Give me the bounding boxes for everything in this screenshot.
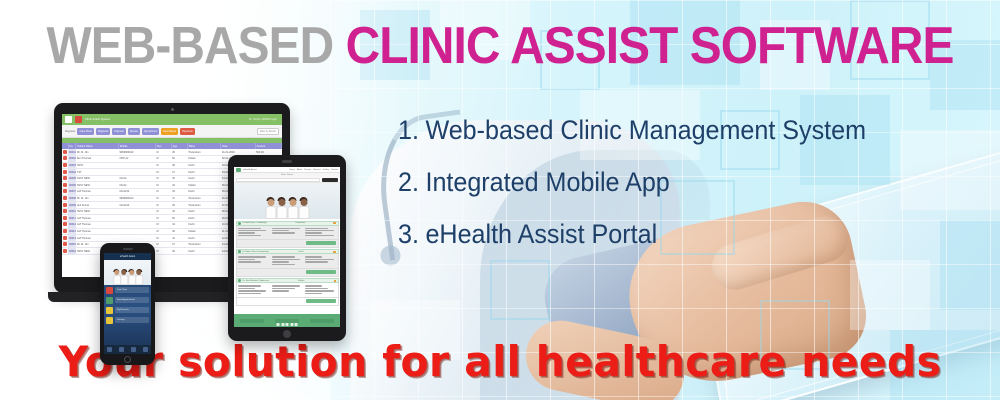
table-cell: 36 — [171, 228, 187, 235]
table-cell: M — [156, 248, 172, 255]
table-cell: 29 — [171, 202, 187, 209]
table-cell — [119, 235, 156, 242]
book-appointment-button-2[interactable] — [306, 270, 336, 274]
table-cell: 0121212 — [119, 202, 156, 209]
doctor-card-2-title: Dr. Meera Nair, Dermatologist — [243, 251, 269, 253]
table-cell: 00002 — [68, 156, 76, 163]
table-cell: Kochi — [187, 235, 221, 242]
toolbar-button-payment[interactable]: Payment — [112, 128, 125, 135]
table-cell: Kochi — [187, 175, 221, 182]
tablet-home-button[interactable] — [283, 330, 291, 338]
doctor-card-2-body — [236, 254, 339, 269]
phone-menu-item-my-records[interactable]: My Records — [104, 305, 151, 315]
gear-icon — [106, 317, 113, 324]
table-cell — [119, 215, 156, 222]
table-cell: 00004 — [68, 169, 76, 176]
table-cell: M — [156, 156, 172, 163]
table-cell: M — [156, 189, 172, 196]
pagination[interactable] — [277, 323, 298, 326]
phone-app-title: eHealth Assist — [104, 253, 151, 260]
app-brand-icon — [75, 116, 82, 123]
table-cell: TEST NEW — [76, 208, 119, 215]
toolbar-button-review[interactable]: Review — [128, 128, 140, 135]
tab-profile-icon[interactable] — [131, 347, 136, 352]
table-cell: Jeff Thomas — [76, 215, 119, 222]
tab-search-icon[interactable] — [119, 347, 124, 352]
footer-button-about-us[interactable] — [240, 319, 264, 323]
phone-menu-item-settings[interactable]: Settings — [104, 315, 151, 325]
table-cell: 00015 — [68, 241, 76, 248]
trash-icon[interactable] — [63, 150, 67, 154]
table-cell: TEST — [76, 162, 119, 169]
phone-tab-bar[interactable] — [104, 345, 151, 354]
trash-icon[interactable] — [63, 183, 67, 187]
table-cell: 00009 — [68, 202, 76, 209]
feature-item-2: 2. Integrated Mobile App — [398, 168, 937, 196]
doctor-card-3-cta-wrap — [236, 298, 339, 306]
doctor-icon — [238, 222, 241, 225]
table-cell: M — [156, 215, 172, 222]
doctor-card-1[interactable]: Dr. Anil Kumar, Cardiologist Trivandrum — [236, 221, 339, 248]
table-cell: 00012 — [68, 222, 76, 229]
table-cell: 00008 — [68, 195, 76, 202]
app-title: Clinic Assist System — [85, 118, 110, 121]
toolbar-button-appointment[interactable]: Appointment — [142, 128, 159, 135]
table-cell: 00003 — [68, 162, 76, 169]
table-cell: 27 — [171, 169, 187, 176]
table-cell: TEST NEW — [76, 175, 119, 182]
phone-hero-image — [104, 260, 151, 285]
tablet-mockup: eHealth Assist Home About Doctors Servic… — [228, 155, 346, 341]
table-cell: M — [156, 182, 172, 189]
doctor-icon — [238, 250, 241, 253]
table-cell — [119, 228, 156, 235]
table-cell: M — [156, 149, 172, 156]
book-appointment-button-3[interactable] — [306, 299, 336, 303]
table-cell: M — [156, 235, 172, 242]
table-cell: 00010 — [68, 208, 76, 215]
medical-staff-photo — [266, 197, 309, 219]
phone-speaker-icon — [123, 248, 133, 250]
feature-number-1: 1. — [398, 116, 419, 144]
table-cell — [119, 162, 156, 169]
footer-button-sign-up[interactable] — [310, 319, 334, 323]
table-cell: 44 — [171, 222, 187, 229]
table-cell: 38 — [171, 162, 187, 169]
table-cell: M — [156, 169, 172, 176]
portal-hero-image — [234, 183, 340, 219]
phone-menu-item-find-clinic[interactable]: Find Clinic — [104, 285, 151, 295]
trash-icon[interactable] — [63, 216, 67, 220]
table-cell: 41 — [171, 235, 187, 242]
table-cell: Trivandrum — [187, 241, 221, 248]
trash-icon[interactable] — [63, 156, 67, 160]
feature-text-2: Integrated Mobile App — [425, 168, 669, 196]
portal-nav-contact[interactable]: Contact — [331, 169, 338, 171]
table-cell: Kochi — [187, 208, 221, 215]
table-cell: 47 — [171, 195, 187, 202]
book-appointment-button-1[interactable] — [306, 241, 336, 245]
portal-search-button[interactable] — [322, 178, 338, 182]
phone-menu-label-2: Book Appointment — [115, 297, 149, 303]
tablet-camera-icon — [282, 160, 292, 163]
table-cell: TEST NEW — [76, 182, 119, 189]
feature-number-2: 2. — [398, 168, 419, 196]
phone-mockup: eHealth Assist Find Clinic Book Appoint — [100, 243, 155, 365]
table-cell: 27 — [171, 241, 187, 248]
table-cell: Anil Kumar — [76, 202, 119, 209]
trash-icon[interactable] — [63, 236, 67, 240]
app-toolbar: Register Case Sheet Diagnosis Payment Re… — [62, 125, 282, 138]
phone-menu-label-4: Settings — [115, 317, 149, 323]
table-cell: M — [156, 202, 172, 209]
table-cell: Kollam — [187, 156, 221, 163]
table-cell — [119, 222, 156, 229]
doctor-card-1-meta: Trivandrum — [295, 222, 305, 224]
trash-icon[interactable] — [63, 229, 67, 233]
table-cell: M — [156, 195, 172, 202]
table-cell: 9999960010 — [119, 195, 156, 202]
headline-part-web-based: WEB-BASED — [46, 17, 333, 75]
table-cell: 01212 — [119, 175, 156, 182]
clinic-icon — [106, 287, 113, 294]
laptop-camera-icon — [171, 108, 174, 111]
tagline: Your solution for all healthcare needs — [15, 338, 985, 386]
app-user-label[interactable]: Dr. Smith | ADMIN Login — [249, 118, 279, 121]
table-cell: M — [156, 208, 172, 215]
trash-icon[interactable] — [63, 222, 67, 226]
trash-icon[interactable] — [63, 189, 67, 193]
doctor-card-3-title: Dr. John Mathew, Pediatrician — [243, 280, 269, 282]
feature-item-3: 3. eHealth Assist Portal — [398, 220, 937, 248]
table-cell: 34 — [171, 208, 187, 215]
page-title: WEB-BASED CLINIC ASSIST SOFTWARE — [40, 18, 960, 74]
doctor-card-1-cta-wrap — [236, 240, 339, 248]
feature-item-1: 1. Web-based Clinic Management System — [398, 116, 937, 144]
trash-icon[interactable] — [63, 163, 67, 167]
tab-home-icon[interactable] — [107, 347, 112, 352]
trash-icon[interactable] — [63, 176, 67, 180]
toolbar-button-new-patient[interactable]: New Patient — [161, 128, 178, 135]
table-cell: 00001 — [68, 149, 76, 156]
doctor-card-3-meta: Kollam — [298, 280, 304, 282]
table-cell: Kochi — [187, 222, 221, 229]
portal-search-input[interactable] — [236, 178, 320, 182]
table-cell: 00006 — [68, 182, 76, 189]
table-cell — [119, 208, 156, 215]
alert-icon — [333, 251, 336, 254]
portal-nav-services[interactable]: Services — [313, 169, 321, 171]
doctor-card-1-body — [236, 226, 339, 241]
phone-menu-item-book-appointment[interactable]: Book Appointment — [104, 295, 151, 305]
phone-menu-label-1: Find Clinic — [115, 287, 149, 293]
table-cell: TST — [76, 169, 119, 176]
table-cell: Mr. M. Jim — [76, 195, 119, 202]
portal-footer — [234, 314, 340, 327]
toolbar-pagination-label: Register — [65, 130, 75, 133]
doctor-card-2-cta-wrap — [236, 269, 339, 277]
phone-home-button[interactable] — [124, 356, 131, 363]
alert-icon — [333, 222, 336, 225]
table-cell: 01212 — [119, 182, 156, 189]
doctor-card-2[interactable]: Dr. Meera Nair, Dermatologist Kochi — [236, 249, 339, 276]
table-cell: Trivandrum — [187, 202, 221, 209]
table-cell: 00011 — [68, 215, 76, 222]
table-cell: M — [156, 241, 172, 248]
trash-icon[interactable] — [63, 196, 67, 200]
toolbar-button-diagnosis[interactable]: Diagnosis — [96, 128, 111, 135]
calendar-icon — [106, 297, 113, 304]
table-cell: 00007 — [68, 189, 76, 196]
doctor-card-2-meta: Kochi — [299, 251, 304, 253]
table-cell: 00016 — [68, 248, 76, 255]
table-cell: 52 — [171, 156, 187, 163]
feature-number-3: 3. — [398, 220, 419, 248]
portal-nav-home[interactable]: Home — [290, 169, 295, 171]
trash-icon[interactable] — [63, 249, 67, 253]
table-cell: 39 — [171, 248, 187, 255]
portal-nav-doctors[interactable]: Doctors — [304, 169, 311, 171]
table-cell: Jeff Thomas — [76, 235, 119, 242]
tablet-screen: eHealth Assist Home About Doctors Servic… — [234, 167, 340, 327]
portal-logo-icon — [236, 168, 241, 172]
table-cell: 00013 — [68, 228, 76, 235]
app-menu-icon[interactable] — [65, 116, 72, 123]
doctor-card-3[interactable]: Dr. John Mathew, Pediatrician Kollam — [236, 278, 339, 305]
table-cell — [119, 169, 156, 176]
table-cell: Kochi — [187, 162, 221, 169]
table-cell: 30 — [171, 175, 187, 182]
table-cell: Kochi — [187, 215, 221, 222]
table-cell: 9999960010 — [119, 149, 156, 156]
doctor-icon — [238, 279, 241, 282]
doctor-card-1-title: Dr. Anil Kumar, Cardiologist — [243, 222, 267, 224]
table-cell: 42 — [171, 182, 187, 189]
table-cell: Kollam — [187, 182, 221, 189]
toolbar-button-case-sheet[interactable]: Case Sheet — [77, 128, 94, 135]
app-topbar: Clinic Assist System Dr. Smith | ADMIN L… — [62, 114, 282, 125]
feature-list: 1. Web-based Clinic Management System 2.… — [398, 116, 978, 272]
doctor-card-3-body — [236, 283, 339, 298]
table-cell: 00014 — [68, 235, 76, 242]
table-cell: OPP-12 — [119, 156, 156, 163]
phone-screen: eHealth Assist Find Clinic Book Appoint — [104, 253, 151, 354]
table-cell: Kochi — [187, 248, 221, 255]
table-cell: M — [156, 175, 172, 182]
table-cell: 00005 — [68, 175, 76, 182]
table-cell: 0121212 — [119, 189, 156, 196]
portal-nav-gallery[interactable]: Gallery — [323, 169, 329, 171]
trash-icon[interactable] — [63, 209, 67, 213]
phone-medical-staff-photo — [113, 269, 143, 286]
table-cell: Mr. M. Jim — [76, 149, 119, 156]
toolbar-filter-by-doctor[interactable]: Filter by Doctor — [257, 128, 279, 135]
table-cell: Trivandrum — [187, 195, 221, 202]
table-cell: M — [156, 228, 172, 235]
table-cell: Ben Thomas — [76, 156, 119, 163]
table-cell: Kochi — [187, 169, 221, 176]
feature-text-1: Web-based Clinic Management System — [425, 116, 866, 144]
table-cell: Jeff Thomas — [76, 189, 119, 196]
table-cell: M — [156, 162, 172, 169]
alert-icon — [334, 280, 337, 283]
headline-part-clinic-assist-software: CLINIC ASSIST SOFTWARE — [346, 17, 954, 75]
phone-menu-label-3: My Records — [115, 307, 149, 313]
table-cell: 50 — [171, 215, 187, 222]
table-cell: Jeff Thomas — [76, 228, 119, 235]
portal-nav-about[interactable]: About — [297, 169, 302, 171]
table-cell: Trivandrum — [187, 149, 221, 156]
trash-icon[interactable] — [63, 170, 67, 174]
device-mockups: Clinic Assist System Dr. Smith | ADMIN L… — [40, 95, 350, 340]
table-cell: Kochi — [187, 189, 221, 196]
feature-text-3: eHealth Assist Portal — [425, 220, 657, 248]
trash-icon[interactable] — [63, 242, 67, 246]
portal-title: eHealth Assist — [243, 169, 257, 171]
records-icon — [106, 307, 113, 314]
table-cell: 33 — [171, 189, 187, 196]
toolbar-button-payments[interactable]: Payments — [180, 128, 195, 135]
table-cell: Jeff Thomas — [76, 222, 119, 229]
promo-banner: WEB-BASED CLINIC ASSIST SOFTWARE 1. Web-… — [0, 0, 1000, 400]
trash-icon[interactable] — [63, 203, 67, 207]
table-cell: Kollam — [187, 228, 221, 235]
table-cell: 45 — [171, 149, 187, 156]
table-cell: M — [156, 222, 172, 229]
tab-more-icon[interactable] — [143, 347, 148, 352]
